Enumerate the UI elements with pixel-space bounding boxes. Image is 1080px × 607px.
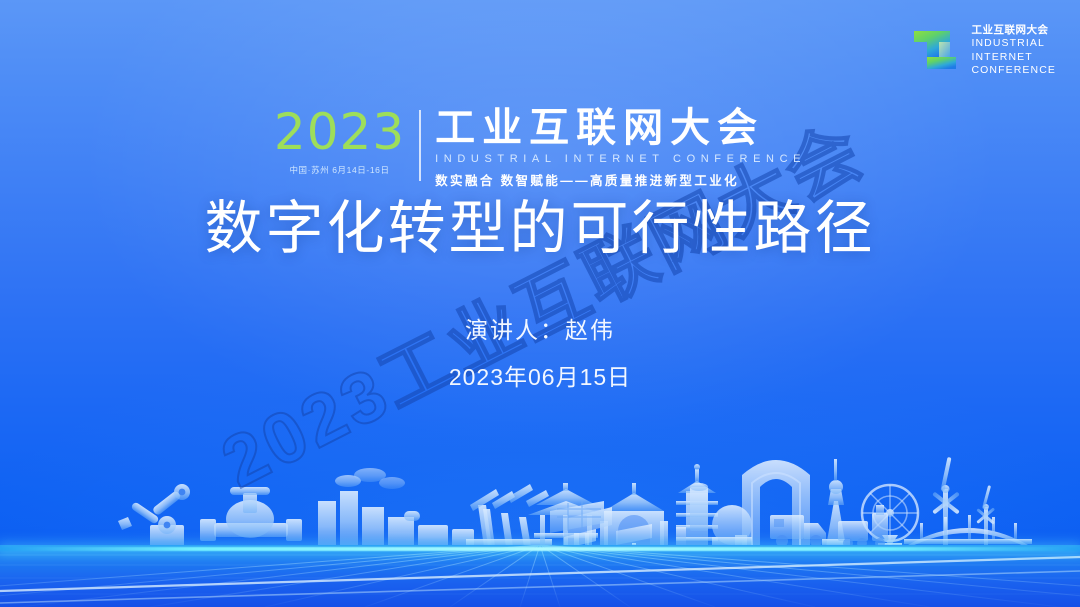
event-logo-name-block: 工业互联网大会 INDUSTRIAL INTERNET CONFERENCE 数… xyxy=(435,108,806,189)
slide-main-title: 数字化转型的可行性路径 xyxy=(0,196,1080,263)
iic-t-monogram-icon xyxy=(910,25,962,77)
event-logo-year: 2023 xyxy=(274,108,405,157)
header-logo-en-1: INDUSTRIAL xyxy=(971,37,1056,50)
event-logo-name-cn: 工业互联网大会 xyxy=(435,108,806,149)
event-logo-lockup: 2023 中国·苏州 6月14日-16日 工业互联网大会 INDUSTRIAL … xyxy=(0,108,1080,189)
event-logo-divider xyxy=(419,110,421,181)
event-logo-place-date: 中国·苏州 6月14日-16日 xyxy=(289,164,389,176)
solar-panel-icon xyxy=(550,501,652,548)
gas-storage-tank-icon xyxy=(676,483,752,547)
event-logo-year-block: 2023 中国·苏州 6月14日-16日 xyxy=(274,108,419,189)
horizon-glow-line xyxy=(0,547,1080,551)
cargo-train-icon xyxy=(838,505,888,548)
header-logo-cn: 工业互联网大会 xyxy=(971,24,1056,37)
industrial-infrastructure-layer xyxy=(0,439,1080,549)
header-logo-en-2: INTERNET xyxy=(971,51,1056,64)
event-logo-tagline: 数实融合 数智赋能——高质量推进新型工业化 xyxy=(435,170,806,189)
title-slide: 工业互联网大会 INDUSTRIAL INTERNET CONFERENCE 2… xyxy=(0,0,1080,607)
arch-bridge-icon xyxy=(904,515,1032,548)
header-conference-logo: 工业互联网大会 INDUSTRIAL INTERNET CONFERENCE xyxy=(910,24,1056,78)
slide-title-block: 数字化转型的可行性路径 演讲人：赵伟 2023年06月15日 xyxy=(0,196,1080,392)
slide-speaker: 演讲人：赵伟 xyxy=(0,311,1080,345)
header-logo-en-3: CONFERENCE xyxy=(971,64,1056,77)
perspective-ground-grid xyxy=(0,545,1080,607)
event-logo-name-en: INDUSTRIAL INTERNET CONFERENCE xyxy=(435,153,806,165)
header-logo-text: 工业互联网大会 INDUSTRIAL INTERNET CONFERENCE xyxy=(971,24,1056,78)
slide-date: 2023年06月15日 xyxy=(0,358,1080,392)
freight-truck-icon xyxy=(770,515,826,547)
